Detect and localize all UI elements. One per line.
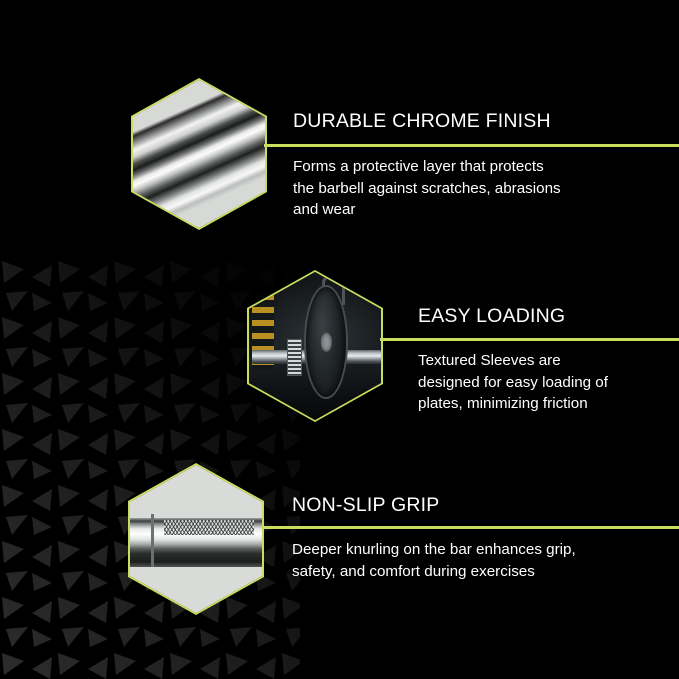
feature-description-line: Deeper knurling on the bar enhances grip… bbox=[292, 539, 679, 561]
feature-description-line: safety, and comfort during exercises bbox=[292, 561, 679, 583]
product-feature-infographic: DURABLE CHROME FINISH Forms a protective… bbox=[0, 0, 679, 679]
feature-title: NON-SLIP GRIP bbox=[292, 494, 679, 517]
feature-row-non-slip-grip: NON-SLIP GRIP Deeper knurling on the bar… bbox=[0, 0, 679, 640]
feature-text-non-slip-grip: NON-SLIP GRIP bbox=[292, 494, 679, 517]
feature-divider bbox=[261, 526, 679, 529]
hexagon-image-clip bbox=[130, 465, 262, 613]
feature-hexagon-non-slip-grip bbox=[128, 463, 264, 615]
knurled-barbell-grip-photo bbox=[130, 465, 262, 613]
feature-description: Deeper knurling on the bar enhances grip… bbox=[292, 539, 679, 582]
